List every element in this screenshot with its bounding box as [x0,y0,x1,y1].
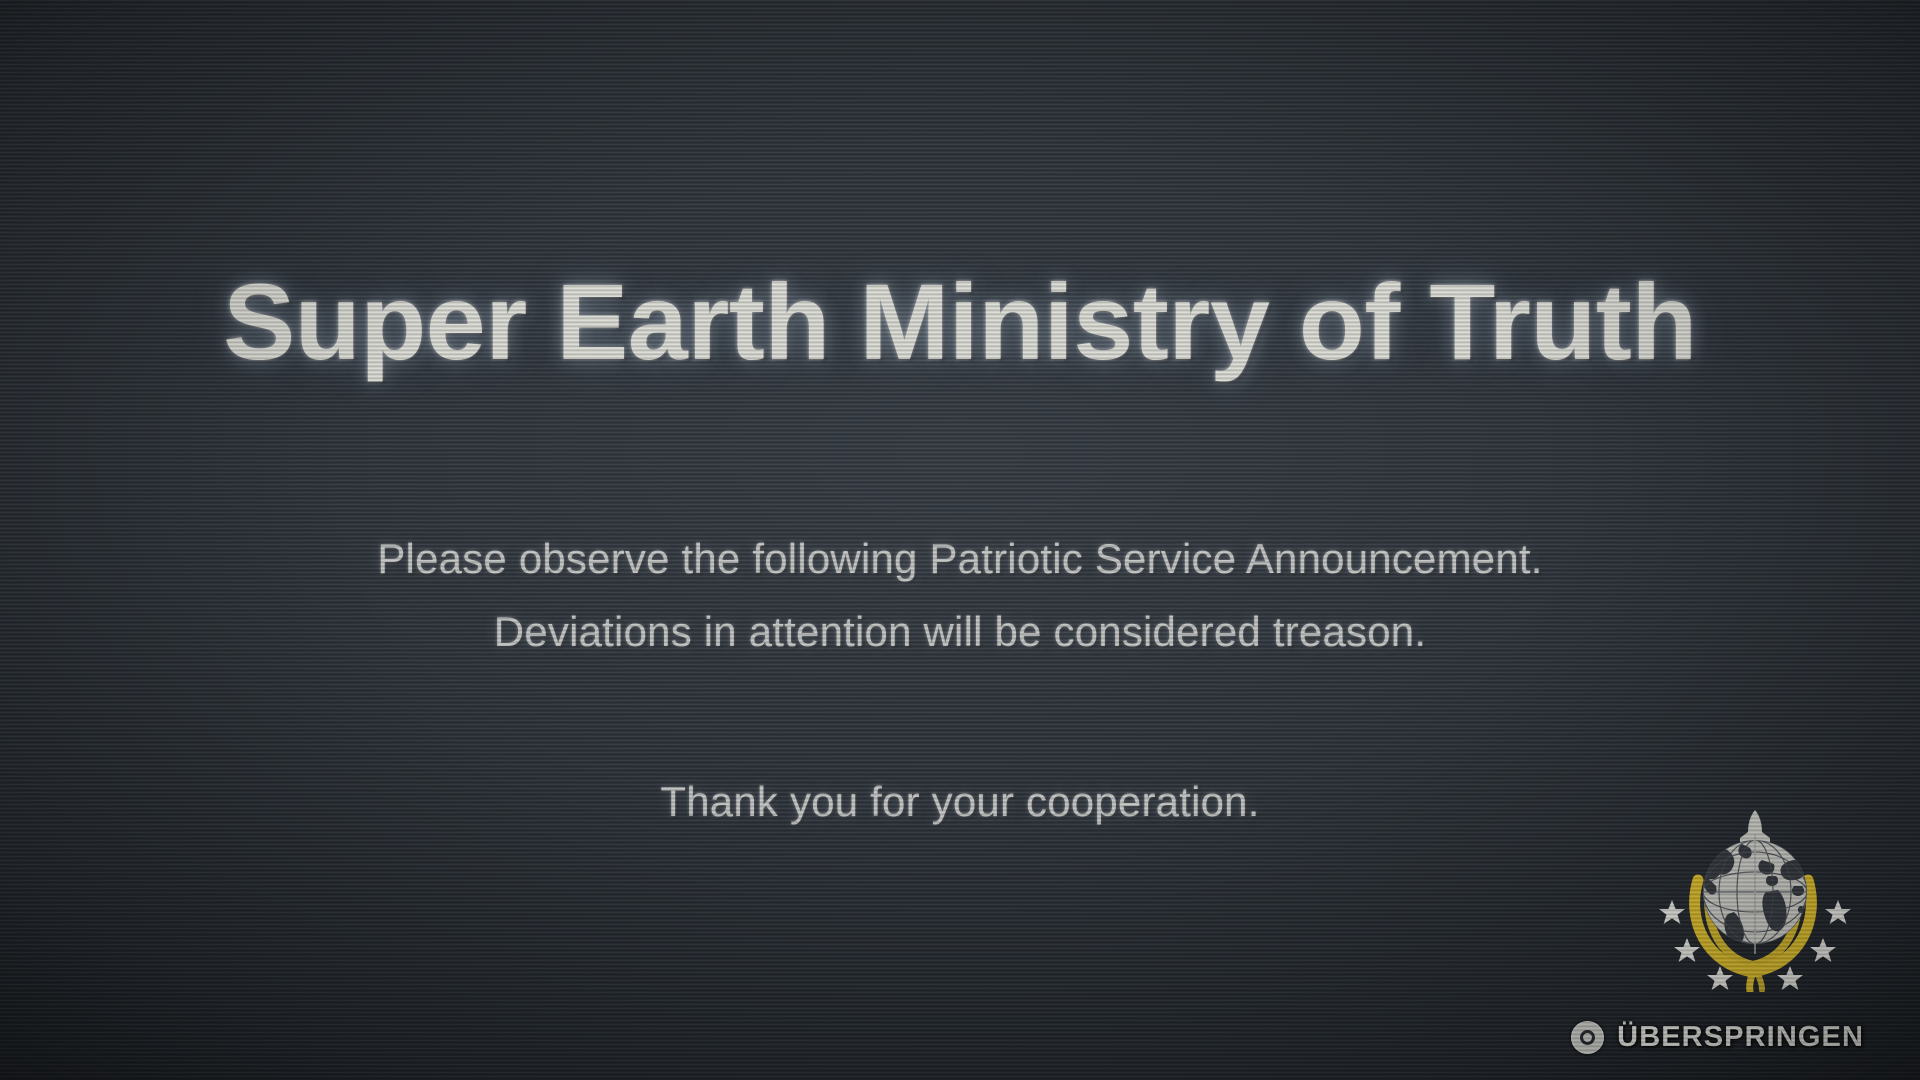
skip-label: ÜBERSPRINGEN [1617,1021,1864,1054]
announcement-line-2: Deviations in attention will be consider… [0,608,1920,656]
playstation-circle-button-icon [1571,1021,1604,1054]
announcement-content: Super Earth Ministry of Truth Please obs… [0,0,1920,1080]
cutscene-screen: Super Earth Ministry of Truth Please obs… [0,0,1920,1080]
super-earth-emblem [1650,802,1860,992]
announcement-line-1: Please observe the following Patriotic S… [0,535,1920,583]
page-title: Super Earth Ministry of Truth [0,268,1920,376]
skip-prompt[interactable]: ÜBERSPRINGEN [1571,1021,1864,1054]
announcement-line-3: Thank you for your cooperation. [0,778,1920,826]
